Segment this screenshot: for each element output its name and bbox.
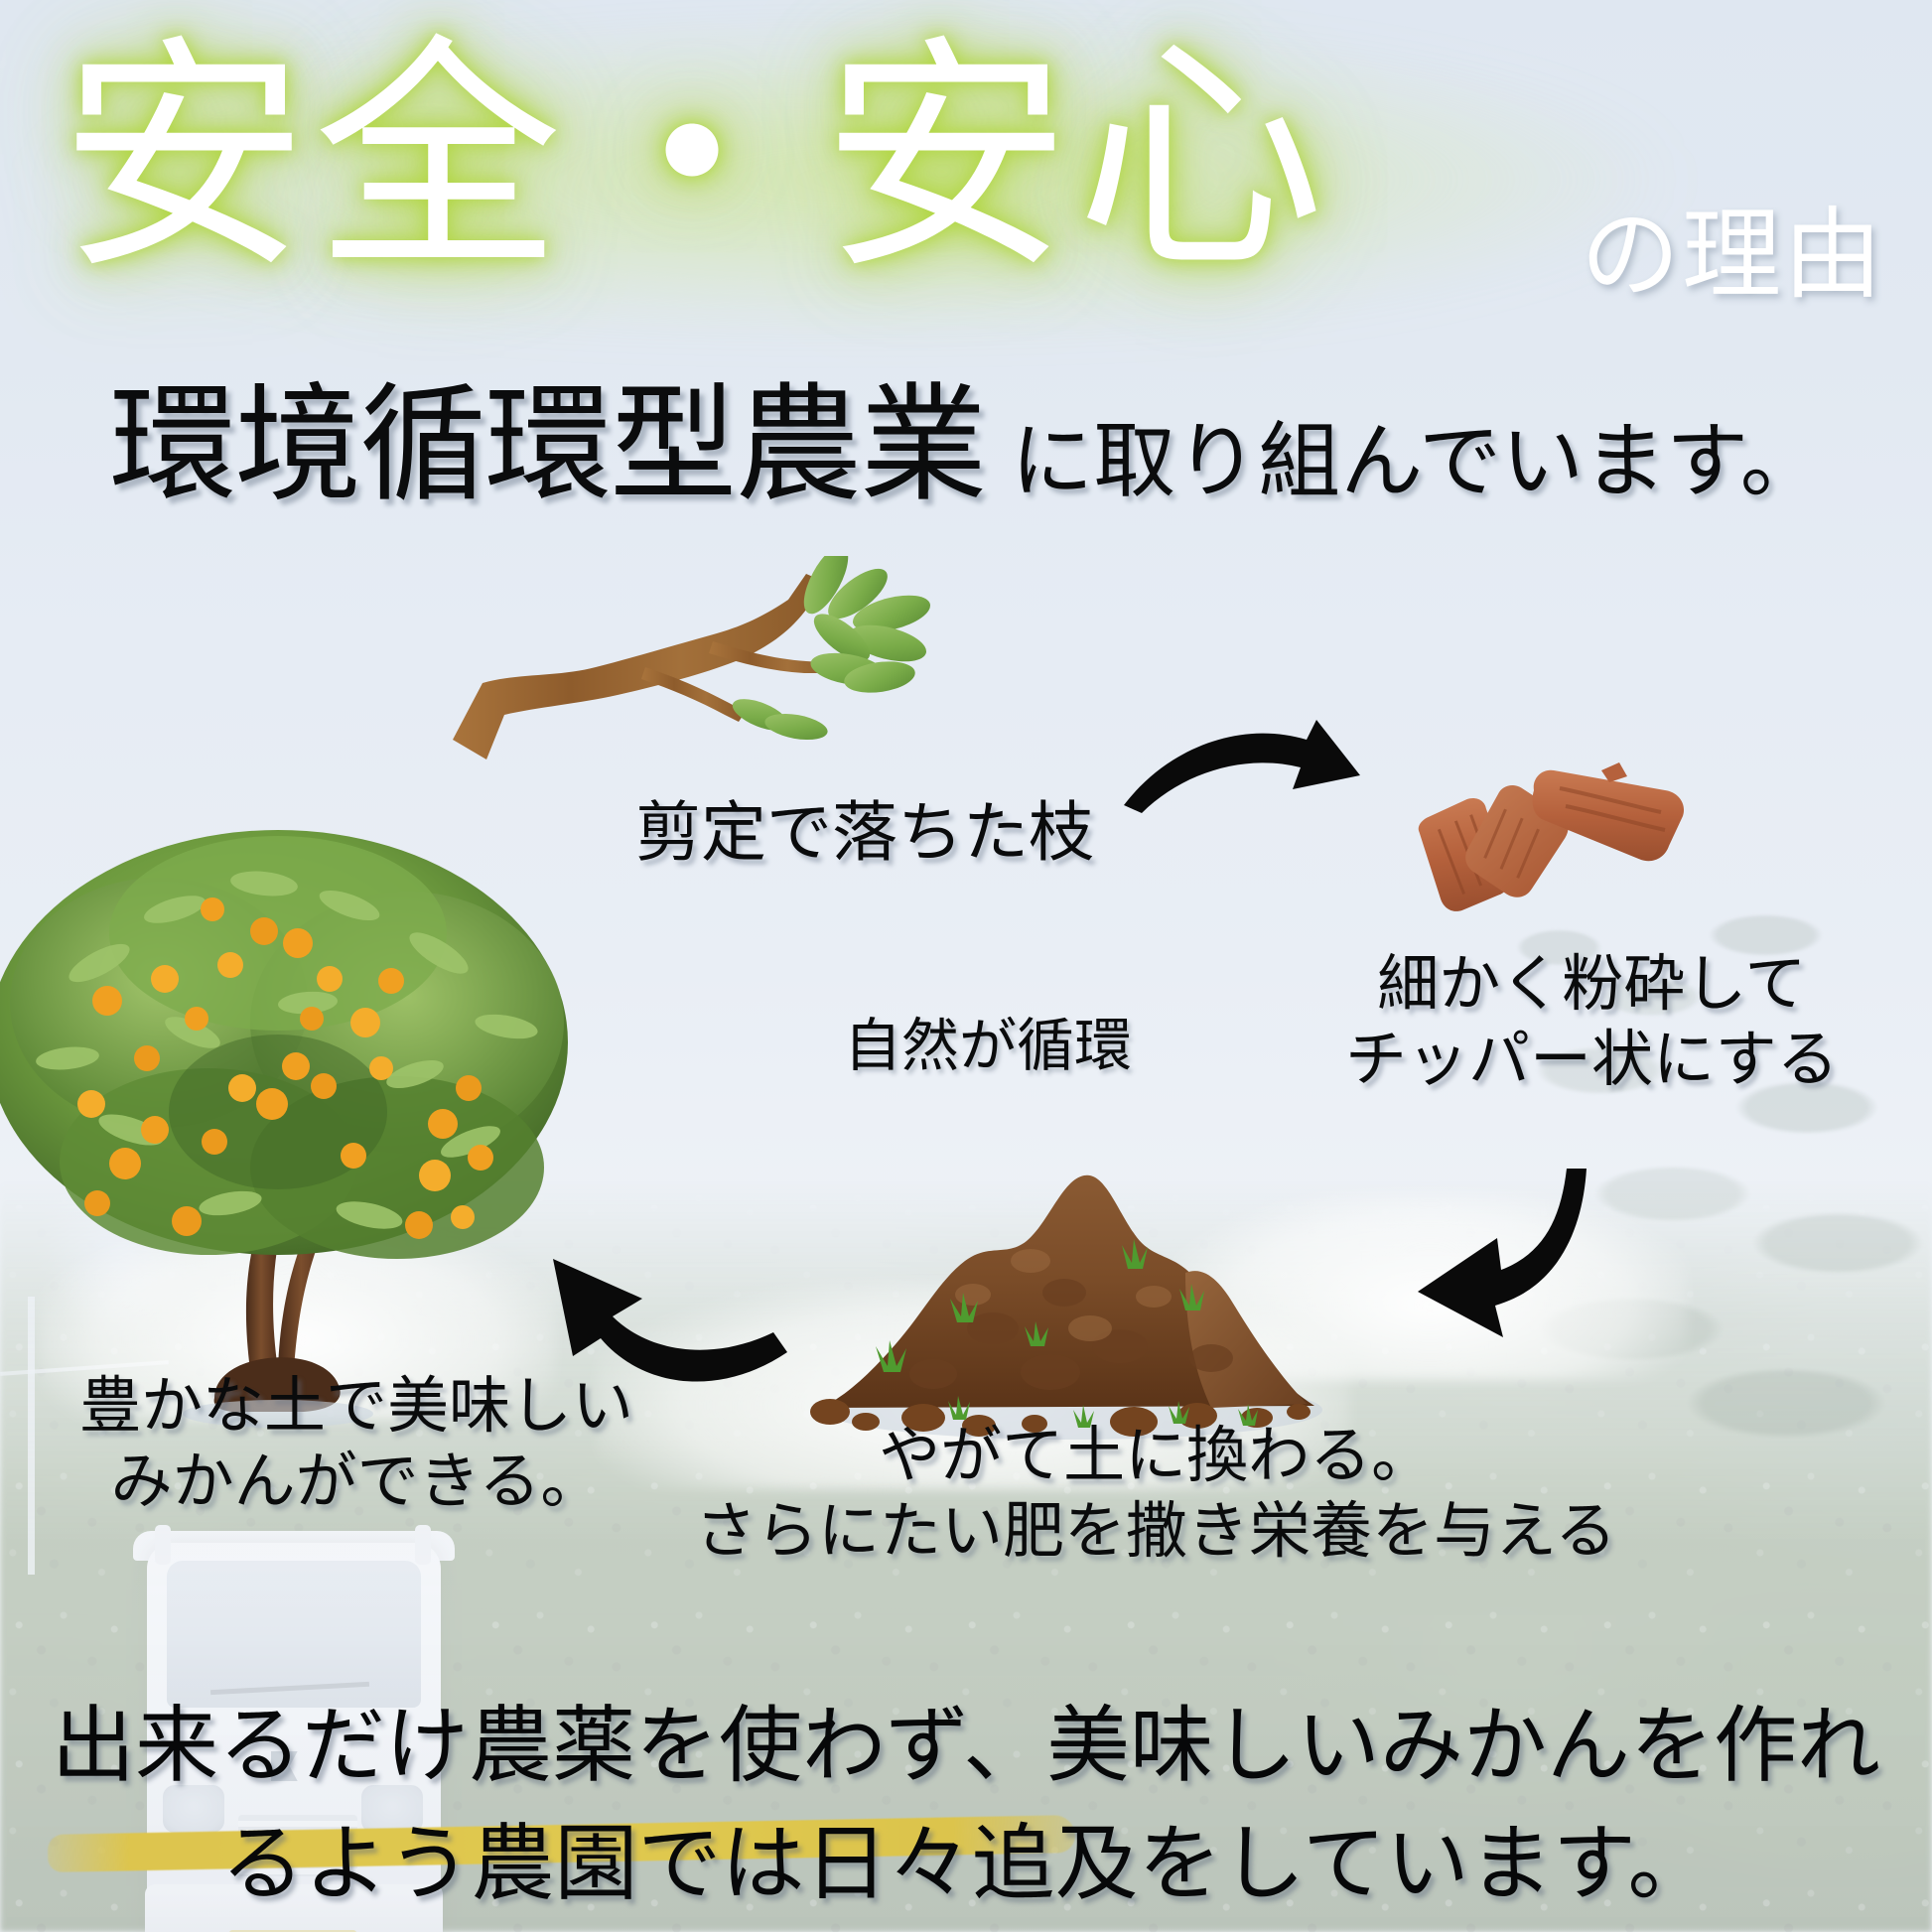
footer-line-1: 出来るだけ農薬を使わず、美味しいみかんを作れ <box>0 1688 1932 1806</box>
caption-wood-chips-line1: 細かく粉砕して <box>1345 948 1839 1024</box>
subtitle-tail: に取り組んでいます。 <box>1011 421 1823 503</box>
mikan-tree-illustration <box>0 814 616 1430</box>
footer-line-2: るよう農園では日々追及をしています。 <box>0 1806 1932 1924</box>
truck-roof <box>133 1531 455 1561</box>
pruned-branch-illustration <box>447 556 1003 774</box>
caption-compost-soil: やがて土に換わる。 さらにたい肥を撒き栄養を与える <box>695 1420 1616 1570</box>
cycle-center-badge: 自然が循環 <box>804 993 1168 1092</box>
footer-statement: 出来るだけ農薬を使わず、美味しいみかんを作れ るよう農園では日々追及をしています… <box>0 1688 1932 1925</box>
truck-windshield <box>167 1561 421 1708</box>
branch-leaves <box>729 556 934 744</box>
subtitle-main: 環境循環型農業 <box>109 382 985 509</box>
caption-mikan-tree-line2: みかんができる。 <box>79 1446 633 1521</box>
arrow-branch-to-chips-icon <box>1122 710 1380 869</box>
truck-mirror-right <box>415 1525 431 1565</box>
caption-wood-chips: 細かく粉砕して チッパー状にする <box>1345 948 1839 1098</box>
page-title-suffix: の理由 <box>1581 207 1884 306</box>
caption-compost-soil-line1: やがて土に換わる。 <box>695 1420 1616 1495</box>
caption-wood-chips-line2: チッパー状にする <box>1345 1024 1839 1099</box>
caption-pruned-branch: 剪定で落ちた枝 <box>635 794 1094 875</box>
caption-mikan-tree: 豊かな土で美味しい みかんができる。 <box>79 1370 633 1520</box>
page-title: 安全・安心 <box>60 38 1330 286</box>
wood-chips-illustration <box>1415 755 1713 933</box>
poster-root: 鹿児島 480 安全・安心 の理由 環境循環型農業 に取り組んでいます。 <box>0 0 1932 1932</box>
caption-mikan-tree-line1: 豊かな土で美味しい <box>79 1370 633 1446</box>
truck-mirror-left <box>155 1525 171 1565</box>
headline-block: 安全・安心 の理由 <box>0 20 1932 308</box>
compost-soil-illustration <box>784 1162 1350 1449</box>
subtitle-block: 環境循環型農業 に取り組んでいます。 <box>0 382 1932 509</box>
soil-mound-right <box>1185 1271 1307 1408</box>
caption-compost-soil-line2: さらにたい肥を撒き栄養を与える <box>695 1495 1616 1571</box>
